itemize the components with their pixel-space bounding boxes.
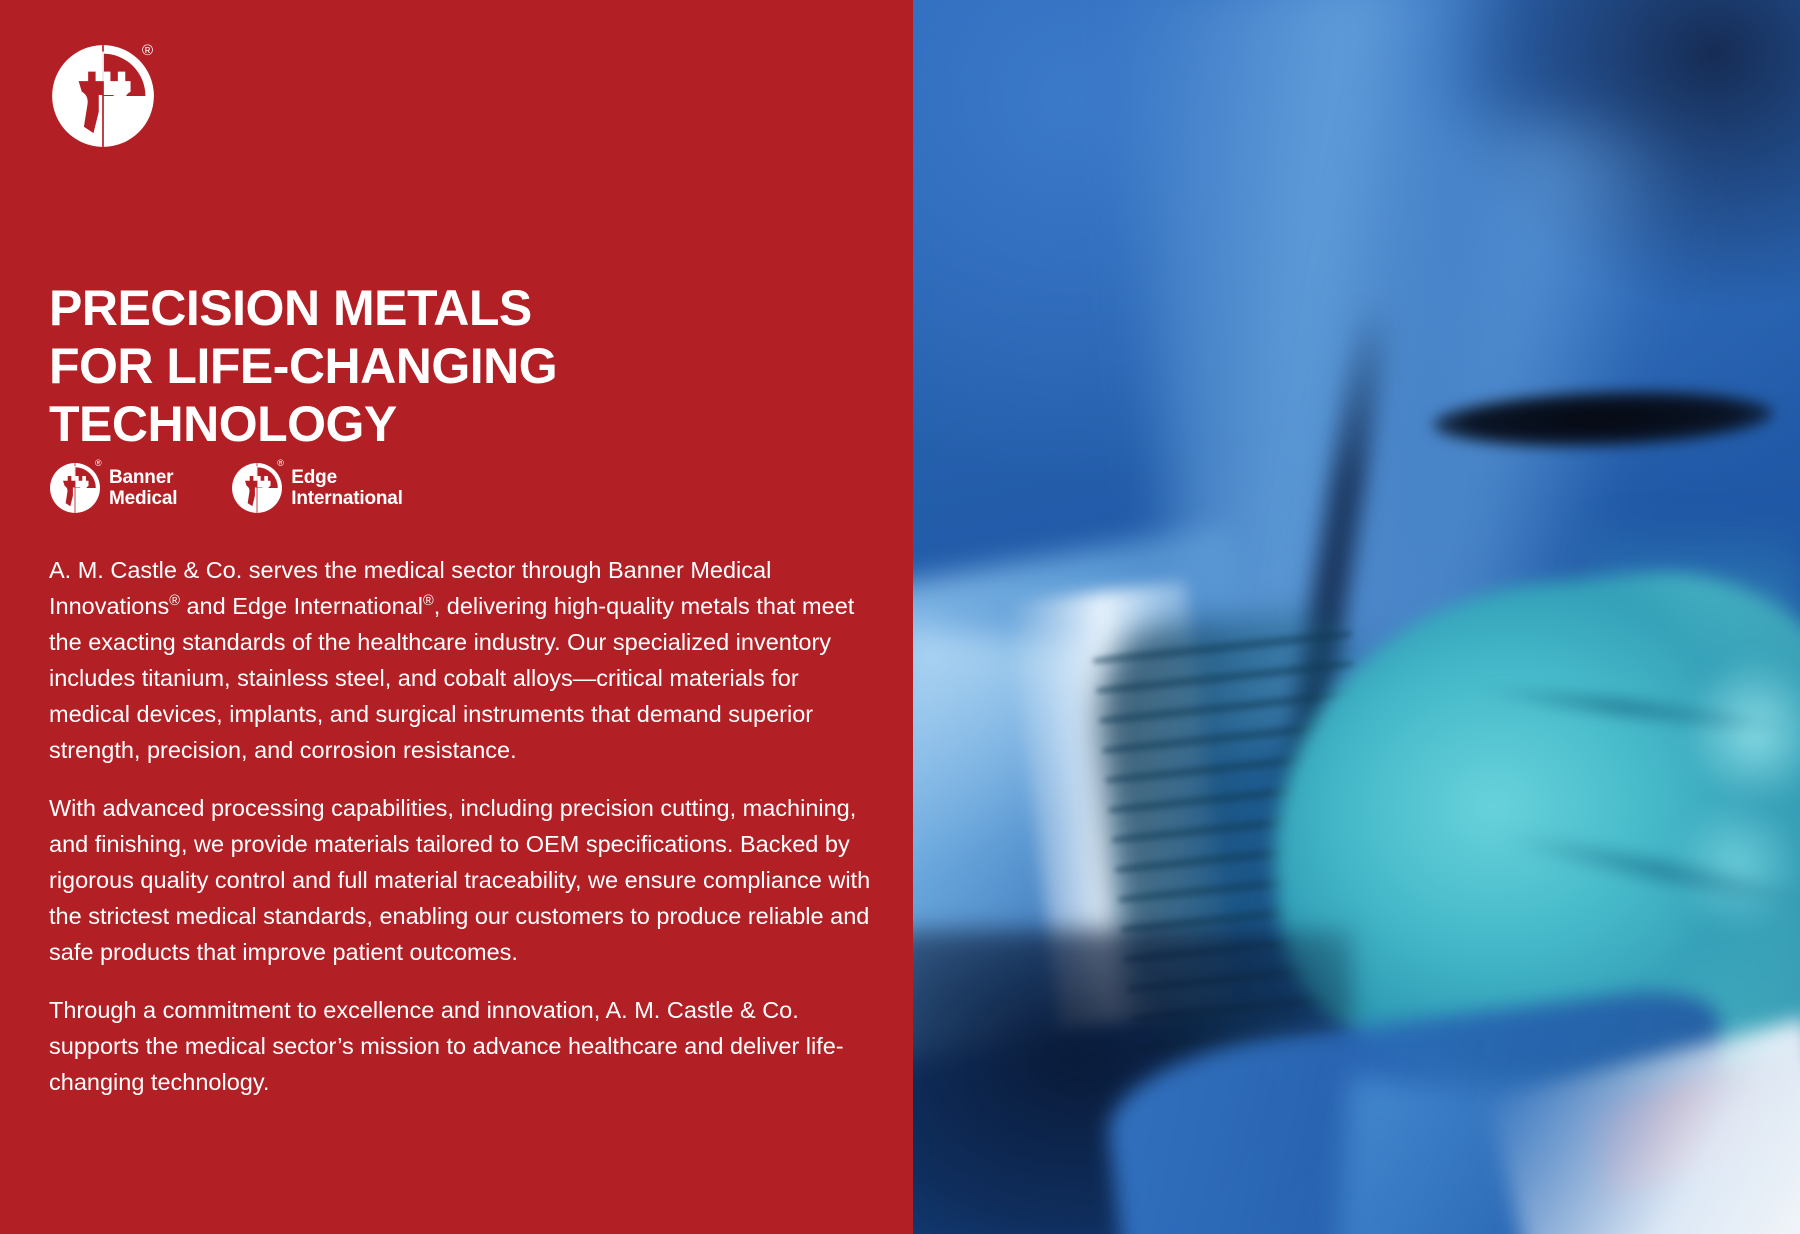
surgical-photo xyxy=(913,0,1800,1234)
brochure-page: ® PRECISION METALS FOR LIFE-CHANGING TEC… xyxy=(0,0,1800,1234)
page-title: PRECISION METALS FOR LIFE-CHANGING TECHN… xyxy=(49,279,749,453)
paragraph-1-text-b: and Edge International xyxy=(180,593,423,619)
headline-line-1: PRECISION METALS xyxy=(49,279,749,337)
sub-brand-name-line-2: Medical xyxy=(109,488,177,509)
castle-tower-circle-icon xyxy=(231,462,283,514)
body-paragraph-3: Through a commitment to excellence and i… xyxy=(49,992,873,1100)
body-copy: A. M. Castle & Co. serves the medical se… xyxy=(49,552,873,1100)
headline-line-3: TECHNOLOGY xyxy=(49,395,749,453)
sub-brand-name-line-2: International xyxy=(291,488,402,509)
body-paragraph-2: With advanced processing capabilities, i… xyxy=(49,790,873,970)
sub-brand-banner-medical: ® Banner Medical xyxy=(49,462,177,514)
sub-brand-name-line-1: Banner xyxy=(109,467,173,488)
sub-brand-lockups: ® Banner Medical xyxy=(49,462,403,514)
photo-glove-knuckles xyxy=(1595,628,1800,1012)
sub-brand-name-line-1: Edge xyxy=(291,467,337,488)
red-content-panel: ® PRECISION METALS FOR LIFE-CHANGING TEC… xyxy=(0,0,913,1234)
paragraph-1-registered-mark-2: ® xyxy=(423,593,434,609)
sub-brand-name: Edge International xyxy=(291,467,402,510)
headline-line-2: FOR LIFE-CHANGING xyxy=(49,337,749,395)
castle-tower-circle-icon xyxy=(49,462,101,514)
sub-brand-edge-international: ® Edge International xyxy=(231,462,402,514)
castle-tower-circle-logo xyxy=(50,43,156,149)
body-paragraph-1: A. M. Castle & Co. serves the medical se… xyxy=(49,552,873,768)
sub-brand-registered-mark: ® xyxy=(277,459,284,468)
sub-brand-registered-mark: ® xyxy=(95,459,102,468)
paragraph-1-registered-mark-1: ® xyxy=(169,593,180,609)
paragraph-1-text-c: , delivering high-quality metals that me… xyxy=(49,593,854,763)
registered-trademark-mark: ® xyxy=(142,43,153,58)
sub-brand-name: Banner Medical xyxy=(109,467,177,510)
